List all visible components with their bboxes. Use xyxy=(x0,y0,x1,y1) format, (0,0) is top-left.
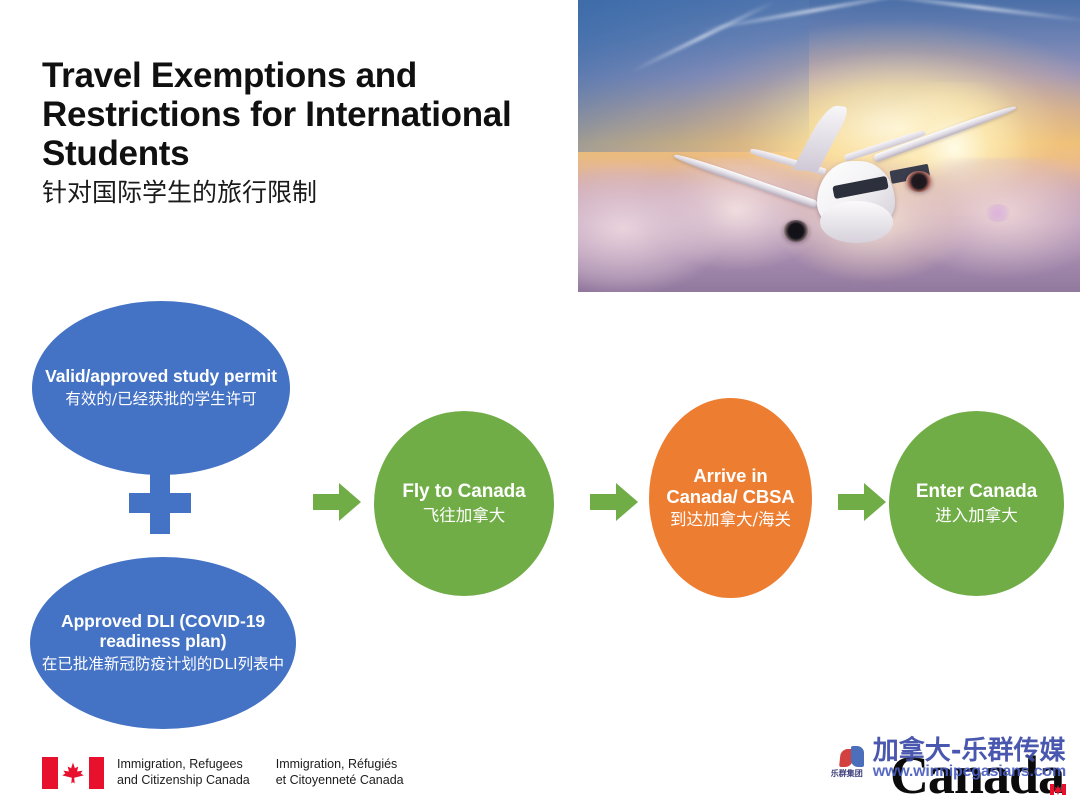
nose-cone xyxy=(820,201,893,244)
node-label-english: Enter Canada xyxy=(916,481,1037,502)
title-chinese: 针对国际学生的旅行限制 xyxy=(42,178,562,208)
department-english: Immigration, Refugees and Citizenship Ca… xyxy=(117,757,250,789)
logo-blue-shape xyxy=(851,746,864,767)
airplane-photo xyxy=(578,0,1080,292)
right-arrow-icon xyxy=(590,483,638,521)
flow-node-enter-canada[interactable]: Enter Canada 进入加拿大 xyxy=(889,411,1064,596)
watermark-url: www.winnipegasians.com xyxy=(873,764,1066,780)
plus-vertical-bar xyxy=(150,472,170,534)
flow-node-approved-dli[interactable]: Approved DLI (COVID-19 readiness plan) 在… xyxy=(30,557,296,729)
node-label-chinese: 进入加拿大 xyxy=(935,506,1018,526)
node-label-english: Fly to Canada xyxy=(402,481,525,502)
left-engine xyxy=(783,220,809,241)
right-arrow-icon xyxy=(313,483,361,521)
department-en-line1: Immigration, Refugees xyxy=(117,757,250,773)
watermark: 乐群集团 加拿大-乐群传媒 www.winnipegasians.com xyxy=(838,738,1066,780)
right-arrow-icon xyxy=(838,483,886,521)
plus-icon xyxy=(129,472,191,534)
department-wordmark: Immigration, Refugees and Citizenship Ca… xyxy=(117,757,404,789)
right-wing xyxy=(873,103,1018,162)
slide-canvas: Travel Exemptions and Restrictions for I… xyxy=(0,0,1080,804)
flag-right-bar xyxy=(89,757,105,789)
flag-left-bar xyxy=(42,757,58,789)
department-french: Immigration, Réfugiés et Citoyenneté Can… xyxy=(276,757,404,789)
watermark-logo-icon: 乐群集团 xyxy=(838,744,868,774)
watermark-logo-caption: 乐群集团 xyxy=(831,768,863,779)
title-english: Travel Exemptions and Restrictions for I… xyxy=(42,56,562,174)
node-label-english: Valid/approved study permit xyxy=(45,367,277,387)
node-label-english: Approved DLI (COVID-19 readiness plan) xyxy=(40,612,286,652)
node-label-chinese: 到达加拿大/海关 xyxy=(670,510,791,530)
flow-node-arrive-in-canada-cbsa[interactable]: Arrive in Canada/ CBSA 到达加拿大/海关 xyxy=(649,398,812,598)
maple-leaf-icon xyxy=(61,761,85,785)
node-label-chinese: 在已批准新冠防疫计划的DLI列表中 xyxy=(42,655,284,674)
department-en-line2: and Citizenship Canada xyxy=(117,773,250,789)
page-title: Travel Exemptions and Restrictions for I… xyxy=(42,56,562,208)
flow-node-fly-to-canada[interactable]: Fly to Canada 飞往加拿大 xyxy=(374,411,554,596)
node-label-chinese: 飞往加拿大 xyxy=(423,506,506,526)
department-fr-line1: Immigration, Réfugiés xyxy=(276,757,404,773)
node-label-chinese: 有效的/已经获批的学生许可 xyxy=(65,390,256,409)
department-fr-line2: et Citoyenneté Canada xyxy=(276,773,404,789)
canada-flag-icon xyxy=(42,757,104,789)
flow-node-valid-study-permit[interactable]: Valid/approved study permit 有效的/已经获批的学生许… xyxy=(32,301,290,475)
ircc-signature: Immigration, Refugees and Citizenship Ca… xyxy=(42,757,404,789)
right-engine xyxy=(906,171,932,192)
node-label-english: Arrive in Canada/ CBSA xyxy=(659,466,802,508)
airplane-icon xyxy=(739,99,1000,263)
watermark-chinese: 加拿大-乐群传媒 xyxy=(873,738,1066,765)
watermark-text: 加拿大-乐群传媒 www.winnipegasians.com xyxy=(873,738,1066,780)
